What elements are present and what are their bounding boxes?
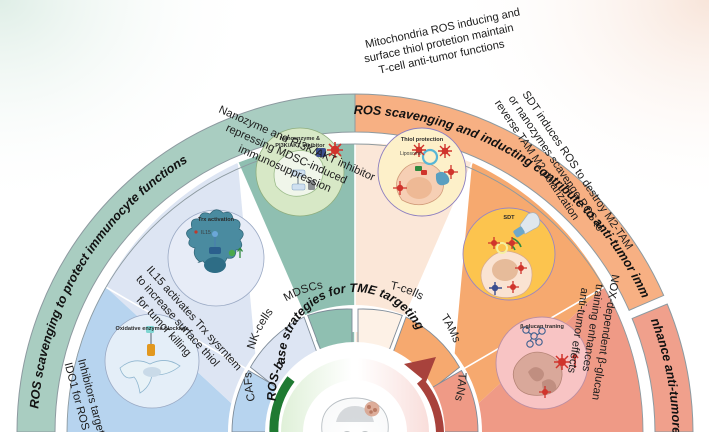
icon-trx-activation[interactable]: Trx activation IL15 — [168, 210, 264, 306]
icon-sub-nk: IL15 — [201, 230, 211, 236]
icon-thiol-protection[interactable]: Thiol protection Liposome — [378, 128, 466, 216]
ros-tme-circular-diagram: Oxidative enzyme blockage Trx activation… — [0, 0, 709, 432]
icon-sdt[interactable]: SDT — [463, 208, 555, 300]
tumor-spot-head — [365, 402, 380, 417]
icon-title-tcells: Thiol protection — [401, 137, 444, 143]
icon-title-nk: Trx activation — [198, 217, 235, 223]
figure-canvas: Oxidative enzyme blockage Trx activation… — [0, 0, 709, 432]
icon-title-tams: SDT — [503, 215, 515, 221]
icon-sub-tcells: Liposome — [400, 151, 422, 157]
il15-dot — [194, 230, 197, 233]
icon-title-tans: β-glucan traning — [520, 324, 564, 330]
